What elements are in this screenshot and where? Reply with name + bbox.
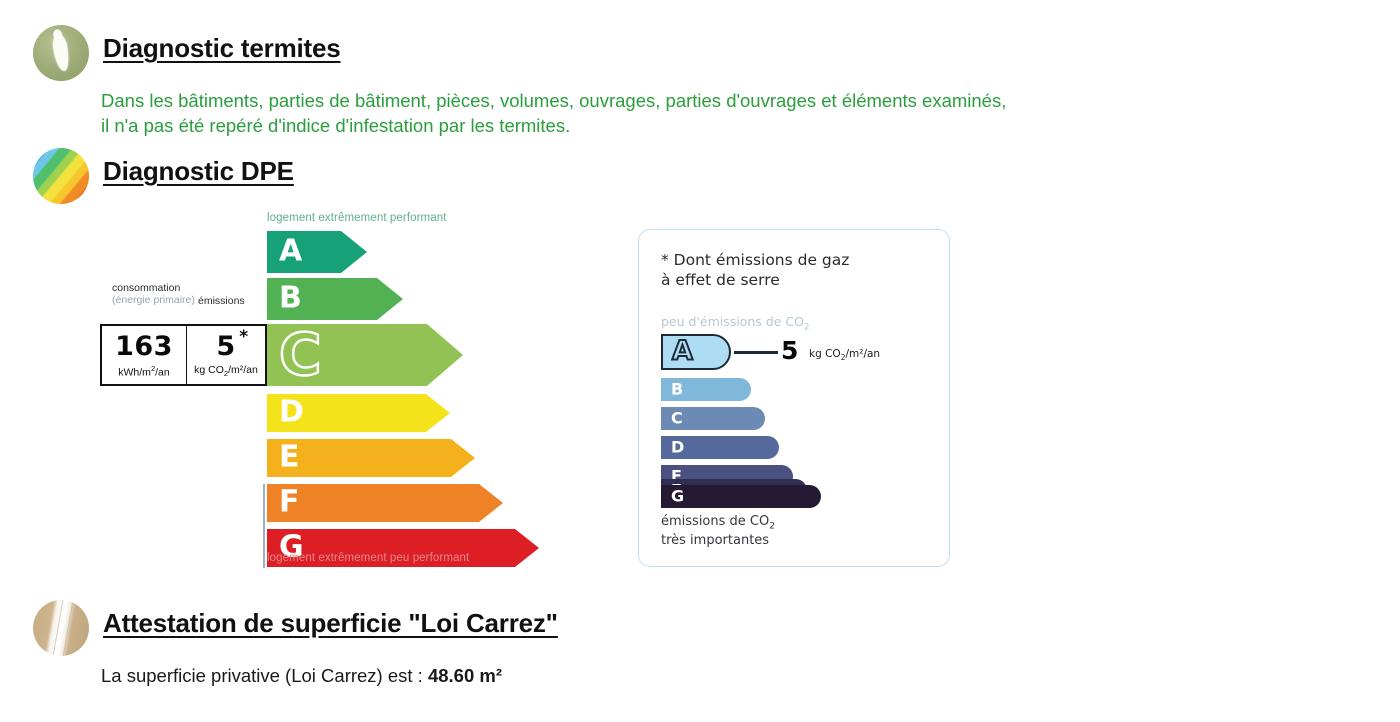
co2-panel-title: * Dont émissions de gaz à effet de serre xyxy=(661,251,849,291)
energy-consumption-value: 163 xyxy=(115,333,173,360)
energy-bar-d: D xyxy=(267,394,450,432)
ruler-ticks xyxy=(33,600,89,656)
co2-caption-bottom-line2: très importantes xyxy=(661,533,769,548)
co2-caption-bottom-line1-pre: émissions de CO xyxy=(661,514,769,529)
termites-body-line1: Dans les bâtiments, parties de bâtiment,… xyxy=(101,89,1006,114)
energy-caption-top: logement extrêmement performant xyxy=(267,212,447,224)
energy-bar-d-label: D xyxy=(279,397,304,427)
energy-bar-a-body: A xyxy=(267,231,341,273)
energy-bar-e-tip xyxy=(451,439,475,477)
energy-bar-e: E xyxy=(267,439,475,477)
co2-caption-bottom: émissions de CO2 très importantes xyxy=(661,514,775,550)
co2-bar-d-label: D xyxy=(671,439,684,455)
energy-current-rating-row: 163 kWh/m2/an 5* kg CO2/m²/an C xyxy=(100,324,463,386)
energy-bar-b-label: B xyxy=(279,283,302,313)
energy-consumption-unit: kWh/m2/an xyxy=(118,365,169,378)
co2-panel-title-line1: * Dont émissions de gaz xyxy=(661,251,849,269)
co2-bar-b: B xyxy=(661,378,751,401)
energy-emission-value: 5* xyxy=(216,333,235,360)
energy-bar-b-tip xyxy=(377,278,403,320)
ruler-icon xyxy=(33,600,89,656)
co2-caption-bottom-line1: émissions de CO2 xyxy=(661,514,775,529)
co2-caption-top-pre: peu d'émissions de CO xyxy=(661,314,804,329)
energy-current-class-label: C xyxy=(279,330,322,379)
energy-header-consumption-line1: consommation xyxy=(112,282,180,294)
co2-bar-a-current: A xyxy=(661,334,731,370)
page-title-termites: Diagnostic termites xyxy=(103,33,341,64)
co2-bar-d: D xyxy=(661,436,779,459)
energy-bar-g-tip xyxy=(515,529,539,567)
energy-bar-a: A xyxy=(267,231,367,273)
energy-bar-c-tip xyxy=(427,324,463,386)
co2-caption-bottom-line1-sub: 2 xyxy=(769,522,775,532)
energy-bar-f-body: F xyxy=(267,484,479,522)
co2-emissions-panel: * Dont émissions de gaz à effet de serre… xyxy=(638,229,950,567)
energy-header-emissions: émissions xyxy=(198,295,245,307)
termite-icon xyxy=(33,25,89,81)
co2-panel-title-line2: à effet de serre xyxy=(661,271,780,289)
page-title-dpe: Diagnostic DPE xyxy=(103,156,294,187)
energy-header-consumption: consommation (énergie primaire) xyxy=(112,282,195,307)
co2-bar-b-label: B xyxy=(671,381,683,397)
carrez-body-prefix: La superficie privative (Loi Carrez) est… xyxy=(101,665,428,686)
termite-bug-shape xyxy=(51,33,71,72)
energy-left-rule xyxy=(263,484,265,568)
energy-consumption-unit-post: /an xyxy=(155,366,170,378)
energy-bar-b-body: B xyxy=(267,278,377,320)
page-title-carrez: Attestation de superficie "Loi Carrez" xyxy=(103,608,558,639)
co2-value-unit-post: /m²/an xyxy=(845,348,880,360)
energy-header-consumption-line2: (énergie primaire) xyxy=(112,294,195,306)
energy-class-chart: logement extrêmement performant consomma… xyxy=(100,212,620,582)
energy-value-box: 163 kWh/m2/an 5* kg CO2/m²/an xyxy=(100,324,267,386)
co2-bar-g-label: G xyxy=(671,488,684,504)
energy-caption-bottom: logement extrêmement peu performant xyxy=(267,552,469,564)
energy-consumption-cell: 163 kWh/m2/an xyxy=(102,326,186,384)
energy-bar-d-tip xyxy=(426,394,450,432)
co2-bar-g: G xyxy=(661,485,821,508)
energy-bar-c-current: C xyxy=(267,324,463,386)
energy-bar-f: F xyxy=(267,484,503,522)
energy-bar-f-label: F xyxy=(279,487,300,517)
rainbow-stripes xyxy=(33,148,89,204)
co2-value: 5 xyxy=(781,338,798,363)
termites-body-line2: il n'a pas été repéré d'indice d'infesta… xyxy=(101,114,570,139)
energy-bar-d-body: D xyxy=(267,394,426,432)
co2-bar-c-label: C xyxy=(671,410,683,426)
carrez-body: La superficie privative (Loi Carrez) est… xyxy=(101,664,502,689)
dpe-energy-label-graphic: logement extrêmement performant consomma… xyxy=(100,212,980,582)
rainbow-icon xyxy=(33,148,89,204)
energy-bar-b: B xyxy=(267,278,403,320)
co2-bar-c: C xyxy=(661,407,765,430)
energy-bar-e-label: E xyxy=(279,442,300,472)
co2-leader-line xyxy=(734,351,778,354)
energy-bar-f-tip xyxy=(479,484,503,522)
energy-bar-a-tip xyxy=(341,231,367,273)
energy-emission-unit-pre: kg CO xyxy=(194,364,224,376)
energy-emission-asterisk: * xyxy=(239,329,248,346)
co2-caption-top-sub: 2 xyxy=(804,323,809,333)
energy-emission-cell: 5* kg CO2/m²/an xyxy=(186,326,265,384)
co2-current-class-label: A xyxy=(672,339,693,363)
co2-value-unit: kg CO2/m²/an xyxy=(809,348,880,362)
energy-emission-number: 5 xyxy=(216,331,235,362)
co2-caption-top: peu d'émissions de CO2 xyxy=(661,314,809,333)
energy-emission-unit: kg CO2/m²/an xyxy=(194,365,258,378)
co2-value-unit-pre: kg CO xyxy=(809,348,841,360)
energy-emission-unit-post: /m²/an xyxy=(228,364,258,376)
energy-bar-a-label: A xyxy=(279,236,302,266)
energy-bar-e-body: E xyxy=(267,439,451,477)
carrez-surface-value: 48.60 m² xyxy=(428,665,502,686)
energy-consumption-unit-pre: kWh/m xyxy=(118,366,151,378)
